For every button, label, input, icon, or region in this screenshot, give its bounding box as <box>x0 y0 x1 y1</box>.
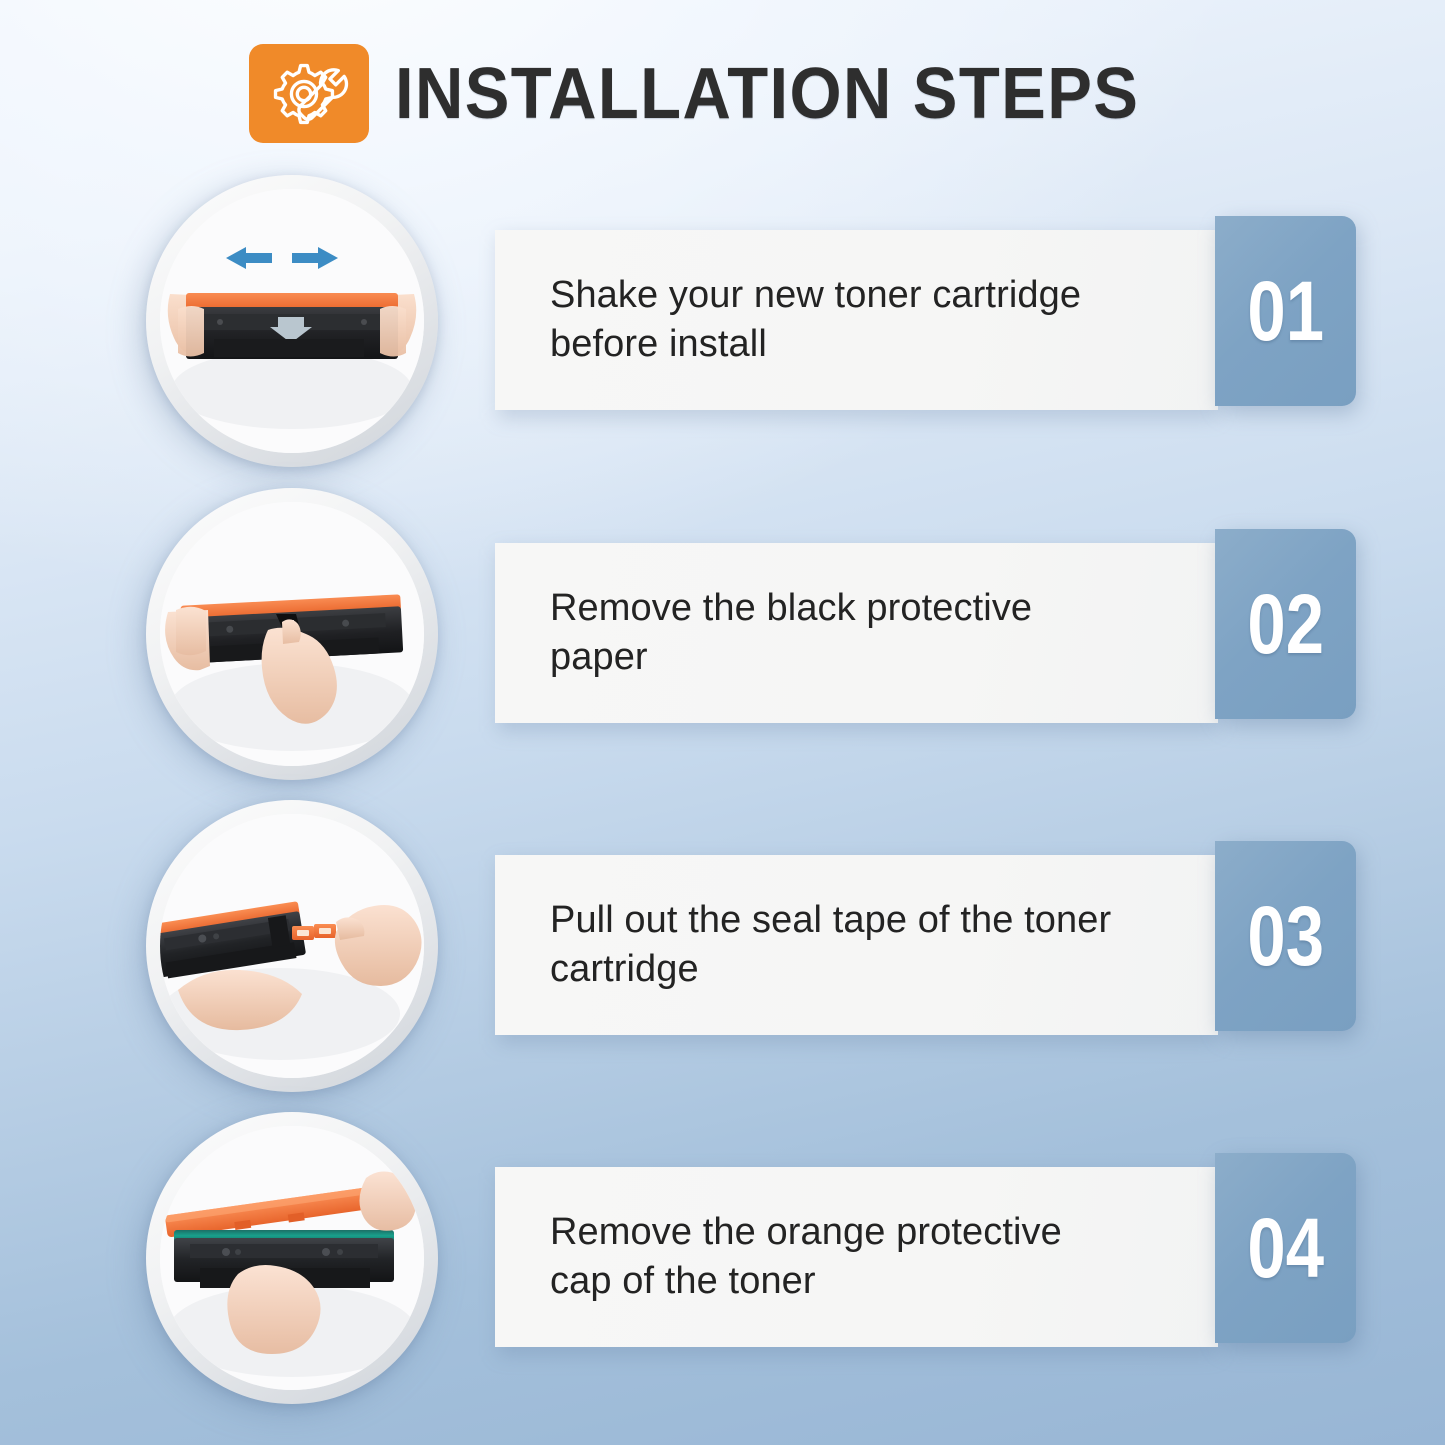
seal-tape-tab <box>292 924 336 940</box>
step-text: Remove the orange protective cap of the … <box>495 1208 1155 1305</box>
photo-inner <box>160 814 424 1078</box>
step-row: Shake your new toner cartridge before in… <box>0 170 1445 485</box>
pull-seal-tape-photo <box>146 800 438 1092</box>
infographic-page: INSTALLATION STEPS <box>0 0 1445 1445</box>
photo-ring <box>146 488 438 780</box>
page-header: INSTALLATION STEPS <box>0 44 1445 143</box>
step-row: Pull out the seal tape of the toner cart… <box>0 795 1445 1110</box>
step-card: Pull out the seal tape of the toner cart… <box>495 855 1218 1035</box>
page-title: INSTALLATION STEPS <box>395 58 1139 130</box>
step-number-badge: 03 <box>1215 841 1356 1031</box>
photo-inner <box>160 189 424 453</box>
step-card: Remove the black protective paper <box>495 543 1218 723</box>
step-number: 01 <box>1247 269 1324 353</box>
toner-shake-photo <box>146 175 438 467</box>
photo-ring <box>146 800 438 1092</box>
remove-orange-cap-photo <box>146 1112 438 1404</box>
step-text: Remove the black protective paper <box>495 584 1155 681</box>
remove-black-paper-photo <box>146 488 438 780</box>
step-number-badge: 01 <box>1215 216 1356 406</box>
step-number: 04 <box>1247 1206 1324 1290</box>
step-card: Remove the orange protective cap of the … <box>495 1167 1218 1347</box>
step-number-badge: 04 <box>1215 1153 1356 1343</box>
step-row: Remove the orange protective cap of the … <box>0 1107 1445 1422</box>
gear-wrench-icon <box>249 44 369 143</box>
step-number: 03 <box>1247 894 1324 978</box>
photo-inner <box>160 502 424 766</box>
photo-ring <box>146 1112 438 1404</box>
photo-inner <box>160 1126 424 1390</box>
step-row: Remove the black protective paper 02 <box>0 483 1445 798</box>
step-number: 02 <box>1247 582 1324 666</box>
photo-ring <box>146 175 438 467</box>
step-number-badge: 02 <box>1215 529 1356 719</box>
step-card: Shake your new toner cartridge before in… <box>495 230 1218 410</box>
step-text: Shake your new toner cartridge before in… <box>495 271 1155 368</box>
step-text: Pull out the seal tape of the toner cart… <box>495 896 1155 993</box>
